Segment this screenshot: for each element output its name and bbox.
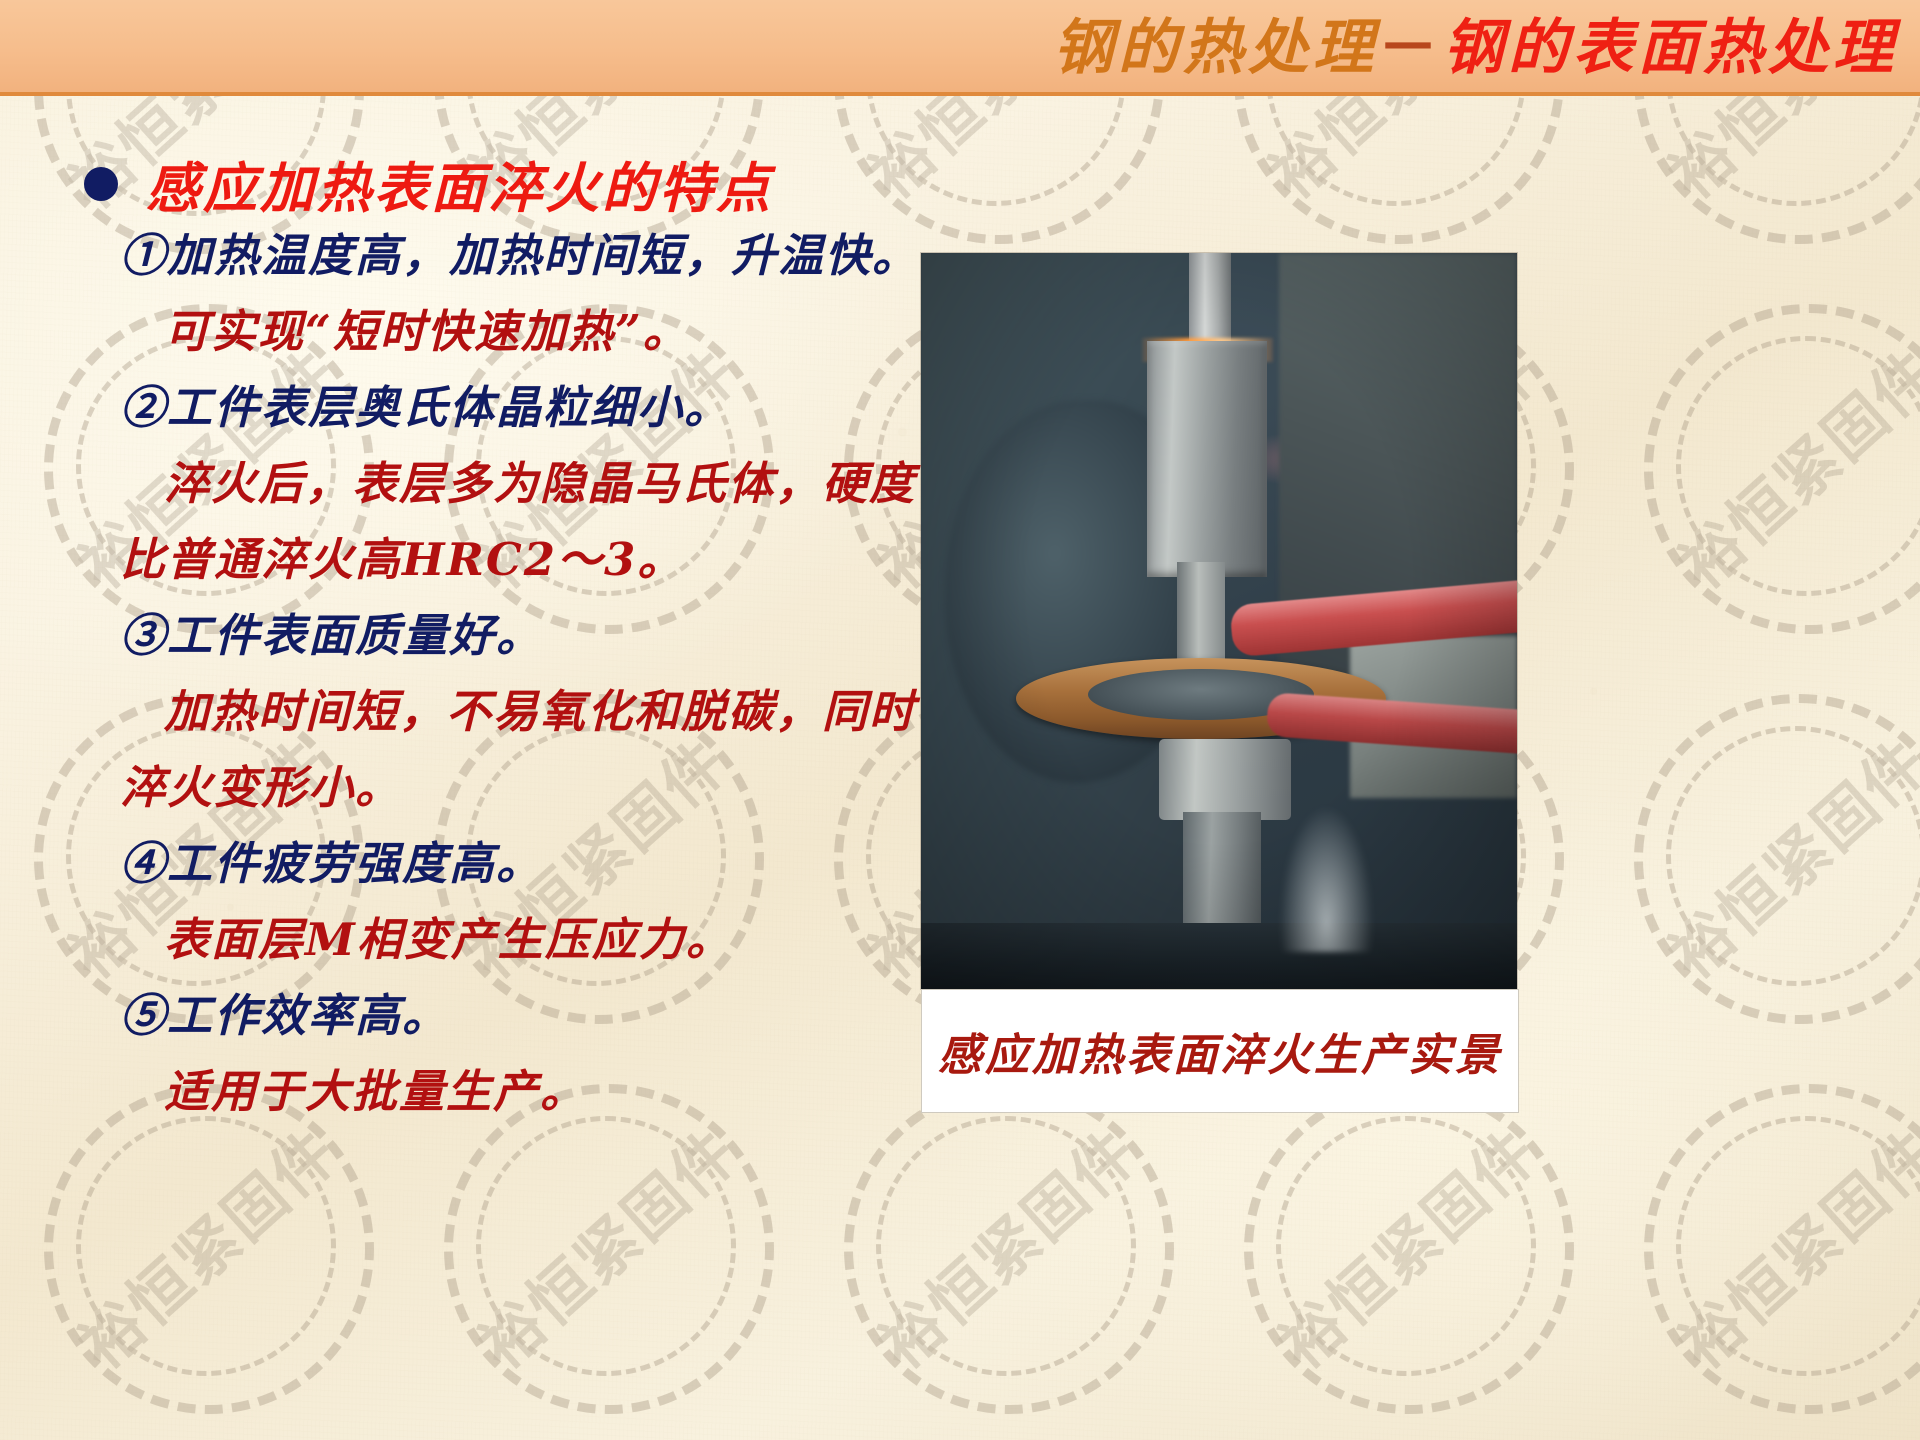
- list-item: 淬火后，表层多为隐晶马氏体，硬度: [120, 446, 920, 522]
- list-item: 比普通淬火高HRC2～3。: [120, 522, 920, 598]
- list-item: ⑤工作效率高。: [120, 978, 920, 1054]
- list-item: 可实现“短时快速加热”。: [120, 294, 920, 370]
- figure-caption-box: 感应加热表面淬火生产实景: [921, 989, 1519, 1113]
- bullet-dot-icon: [84, 167, 118, 201]
- list-item: 表面层M相变产生压应力。: [120, 902, 920, 978]
- section-heading: 感应加热表面淬火的特点: [84, 144, 773, 223]
- figure-photo: [921, 253, 1517, 989]
- figure-caption: 感应加热表面淬火生产实景: [938, 1019, 1502, 1083]
- body-text-block: ①加热温度高，加热时间短，升温快。 可实现“短时快速加热”。 ②工件表层奥氏体晶…: [120, 218, 920, 1130]
- list-item: ①加热温度高，加热时间短，升温快。: [120, 218, 920, 294]
- list-item: 加热时间短，不易氧化和脱碳，同时: [120, 674, 920, 750]
- slide-content: 感应加热表面淬火的特点 ①加热温度高，加热时间短，升温快。 可实现“短时快速加热…: [0, 0, 1920, 1440]
- list-item: 适用于大批量生产。: [120, 1054, 920, 1130]
- list-item: 淬火变形小。: [120, 750, 920, 826]
- list-item: ③工件表面质量好。: [120, 598, 920, 674]
- section-heading-label: 感应加热表面淬火的特点: [146, 144, 773, 223]
- slide-root: 裕恒紧固件 裕恒紧固件 裕恒紧固件 裕恒紧固件 裕恒紧固件 裕恒紧固件 裕恒紧固…: [0, 0, 1920, 1440]
- list-item: ④工件疲劳强度高。: [120, 826, 920, 902]
- list-item: ②工件表层奥氏体晶粒细小。: [120, 370, 920, 446]
